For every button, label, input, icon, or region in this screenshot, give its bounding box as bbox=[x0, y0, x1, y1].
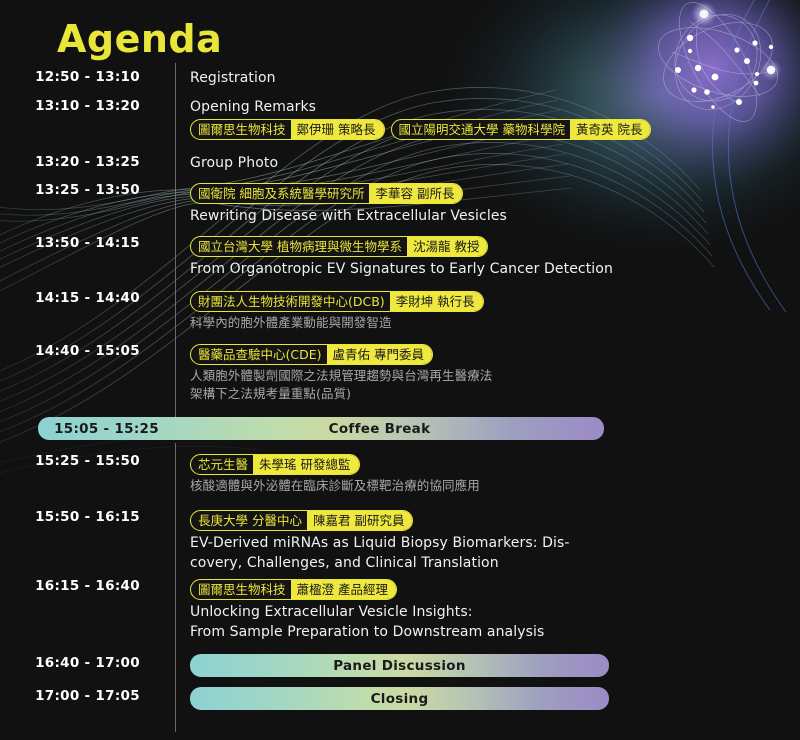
speaker-badge: 長庚大學 分醫中心陳嘉君 副研究員 bbox=[190, 510, 413, 531]
speaker-badge-group: 財團法人生物技術開發中心(DCB)李財坤 執行長 bbox=[190, 291, 790, 312]
row-content: 圖爾思生物科技蕭楹澄 產品經理Unlocking Extracellular V… bbox=[175, 577, 800, 642]
speaker-badge: 芯元生醫朱學瑤 研發總監 bbox=[190, 454, 360, 475]
row-content: 國立台灣大學 植物病理與微生物學系沈湯龍 教授From Organotropic… bbox=[175, 234, 800, 279]
row-content: Registration bbox=[175, 68, 800, 88]
row-content: 財團法人生物技術開發中心(DCB)李財坤 執行長科學內的胞外體產業動能與開發智造 bbox=[175, 289, 800, 332]
session-talk-title-group: Rewriting Disease with Extracellular Ves… bbox=[190, 206, 790, 226]
agenda-row: 13:50 - 14:15國立台灣大學 植物病理與微生物學系沈湯龍 教授From… bbox=[0, 234, 800, 279]
speaker-badge-group: 長庚大學 分醫中心陳嘉君 副研究員 bbox=[190, 510, 790, 531]
session-talk-title: covery, Challenges, and Clinical Transla… bbox=[190, 553, 790, 573]
badge-person: 沈湯龍 教授 bbox=[407, 237, 487, 256]
break-bar: 15:05 - 15:25Coffee Break bbox=[38, 417, 604, 440]
row-content: Opening Remarks圖爾思生物科技鄭伊珊 策略長國立陽明交通大學 藥物… bbox=[175, 97, 800, 142]
session-talk-title-group: EV-Derived miRNAs as Liquid Biopsy Bioma… bbox=[190, 533, 790, 573]
session-bar: Panel Discussion bbox=[190, 654, 609, 677]
agenda-row: 15:05 - 15:25Coffee Break bbox=[0, 417, 800, 431]
speaker-badge-group: 國衛院 細胞及系統醫學研究所李華容 副所長 bbox=[190, 183, 790, 204]
badge-organization: 國衛院 細胞及系統醫學研究所 bbox=[191, 184, 369, 203]
badge-organization: 長庚大學 分醫中心 bbox=[191, 511, 307, 530]
row-time: 15:50 - 16:15 bbox=[0, 508, 175, 525]
session-description-group: 人類胞外體製劑國際之法規管理趨勢與台灣再生醫療法架構下之法規考量重點(品質) bbox=[190, 367, 790, 403]
session-description: 核酸適體與外泌體在臨床診斷及標靶治療的協同應用 bbox=[190, 477, 790, 495]
row-label: Coffee Break bbox=[175, 421, 604, 437]
badge-person: 李華容 副所長 bbox=[369, 184, 462, 203]
badge-organization: 國立陽明交通大學 藥物科學院 bbox=[392, 120, 570, 139]
session-description-group: 核酸適體與外泌體在臨床診斷及標靶治療的協同應用 bbox=[190, 477, 790, 495]
agenda-row: 14:40 - 15:05醫藥品查驗中心(CDE)盧青佑 專門委員人類胞外體製劑… bbox=[0, 342, 800, 403]
agenda-row: 13:20 - 13:25Group Photo bbox=[0, 153, 800, 173]
session-talk-title: Unlocking Extracellular Vesicle Insights… bbox=[190, 602, 790, 622]
badge-organization: 芯元生醫 bbox=[191, 455, 253, 474]
speaker-badge-group: 芯元生醫朱學瑤 研發總監 bbox=[190, 454, 790, 475]
speaker-badge: 圖爾思生物科技蕭楹澄 產品經理 bbox=[190, 579, 397, 600]
row-content: 醫藥品查驗中心(CDE)盧青佑 專門委員人類胞外體製劑國際之法規管理趨勢與台灣再… bbox=[175, 342, 800, 403]
badge-organization: 圖爾思生物科技 bbox=[191, 580, 291, 599]
agenda-row: 12:50 - 13:10Registration bbox=[0, 68, 800, 88]
session-title: Registration bbox=[190, 68, 790, 88]
badge-person: 黃奇英 院長 bbox=[570, 120, 650, 139]
session-talk-title: Rewriting Disease with Extracellular Ves… bbox=[190, 206, 790, 226]
agenda-row: 14:15 - 14:40財團法人生物技術開發中心(DCB)李財坤 執行長科學內… bbox=[0, 289, 800, 332]
badge-organization: 圖爾思生物科技 bbox=[191, 120, 291, 139]
agenda-row: 15:25 - 15:50芯元生醫朱學瑤 研發總監核酸適體與外泌體在臨床診斷及標… bbox=[0, 452, 800, 495]
row-content: Group Photo bbox=[175, 153, 800, 173]
row-time: 15:05 - 15:25 bbox=[38, 421, 175, 437]
badge-person: 李財坤 執行長 bbox=[390, 292, 483, 311]
row-time: 16:15 - 16:40 bbox=[0, 577, 175, 594]
speaker-badge-group: 圖爾思生物科技蕭楹澄 產品經理 bbox=[190, 579, 790, 600]
row-content: 芯元生醫朱學瑤 研發總監核酸適體與外泌體在臨床診斷及標靶治療的協同應用 bbox=[175, 452, 800, 495]
speaker-badge: 國立台灣大學 植物病理與微生物學系沈湯龍 教授 bbox=[190, 236, 488, 257]
speaker-badge-group: 國立台灣大學 植物病理與微生物學系沈湯龍 教授 bbox=[190, 236, 790, 257]
badge-person: 蕭楹澄 產品經理 bbox=[291, 580, 396, 599]
row-time: 13:50 - 14:15 bbox=[0, 234, 175, 251]
session-description-group: 科學內的胞外體產業動能與開發智造 bbox=[190, 314, 790, 332]
row-content: 國衛院 細胞及系統醫學研究所李華容 副所長Rewriting Disease w… bbox=[175, 181, 800, 226]
speaker-badge-group: 醫藥品查驗中心(CDE)盧青佑 專門委員 bbox=[190, 344, 790, 365]
session-talk-title: From Sample Preparation to Downstream an… bbox=[190, 622, 790, 642]
badge-organization: 國立台灣大學 植物病理與微生物學系 bbox=[191, 237, 407, 256]
session-title: Opening Remarks bbox=[190, 97, 790, 117]
session-talk-title-group: Unlocking Extracellular Vesicle Insights… bbox=[190, 602, 790, 642]
session-talk-title: From Organotropic EV Signatures to Early… bbox=[190, 259, 790, 279]
row-time: 13:20 - 13:25 bbox=[0, 153, 175, 170]
speaker-badge: 圖爾思生物科技鄭伊珊 策略長 bbox=[190, 119, 385, 140]
row-time: 13:25 - 13:50 bbox=[0, 181, 175, 198]
row-time: 16:40 - 17:00 bbox=[0, 654, 175, 671]
speaker-badge: 醫藥品查驗中心(CDE)盧青佑 專門委員 bbox=[190, 344, 433, 365]
badge-organization: 醫藥品查驗中心(CDE) bbox=[191, 345, 327, 364]
page-title: Agenda bbox=[57, 17, 222, 61]
session-talk-title-group: From Organotropic EV Signatures to Early… bbox=[190, 259, 790, 279]
row-time: 13:10 - 13:20 bbox=[0, 97, 175, 114]
session-talk-title: EV-Derived miRNAs as Liquid Biopsy Bioma… bbox=[190, 533, 790, 553]
session-description: 架構下之法規考量重點(品質) bbox=[190, 385, 790, 403]
badge-organization: 財團法人生物技術開發中心(DCB) bbox=[191, 292, 390, 311]
badge-person: 朱學瑤 研發總監 bbox=[253, 455, 358, 474]
badge-person: 盧青佑 專門委員 bbox=[327, 345, 432, 364]
row-time: 12:50 - 13:10 bbox=[0, 68, 175, 85]
speaker-badge-group: 圖爾思生物科技鄭伊珊 策略長國立陽明交通大學 藥物科學院黃奇英 院長 bbox=[190, 119, 790, 140]
speaker-badge: 國衛院 細胞及系統醫學研究所李華容 副所長 bbox=[190, 183, 463, 204]
agenda-row: 16:15 - 16:40圖爾思生物科技蕭楹澄 產品經理Unlocking Ex… bbox=[0, 577, 800, 642]
badge-person: 鄭伊珊 策略長 bbox=[291, 120, 384, 139]
speaker-badge: 國立陽明交通大學 藥物科學院黃奇英 院長 bbox=[391, 119, 652, 140]
agenda-row: 16:40 - 17:00Panel Discussion bbox=[0, 654, 800, 677]
row-time: 17:00 - 17:05 bbox=[0, 687, 175, 704]
agenda-row: 17:00 - 17:05Closing bbox=[0, 687, 800, 710]
session-description: 科學內的胞外體產業動能與開發智造 bbox=[190, 314, 790, 332]
row-time: 14:40 - 15:05 bbox=[0, 342, 175, 359]
session-bar: Closing bbox=[190, 687, 609, 710]
session-description: 人類胞外體製劑國際之法規管理趨勢與台灣再生醫療法 bbox=[190, 367, 790, 385]
row-content: 長庚大學 分醫中心陳嘉君 副研究員EV-Derived miRNAs as Li… bbox=[175, 508, 800, 573]
agenda-row: 13:25 - 13:50國衛院 細胞及系統醫學研究所李華容 副所長Rewrit… bbox=[0, 181, 800, 226]
row-time: 15:25 - 15:50 bbox=[0, 452, 175, 469]
agenda-row: 15:50 - 16:15長庚大學 分醫中心陳嘉君 副研究員EV-Derived… bbox=[0, 508, 800, 573]
agenda-row: 13:10 - 13:20Opening Remarks圖爾思生物科技鄭伊珊 策… bbox=[0, 97, 800, 142]
speaker-badge: 財團法人生物技術開發中心(DCB)李財坤 執行長 bbox=[190, 291, 484, 312]
session-title: Group Photo bbox=[190, 153, 790, 173]
badge-person: 陳嘉君 副研究員 bbox=[307, 511, 412, 530]
agenda-page: Agenda 12:50 - 13:10Registration13:10 - … bbox=[0, 0, 800, 740]
row-time: 14:15 - 14:40 bbox=[0, 289, 175, 306]
